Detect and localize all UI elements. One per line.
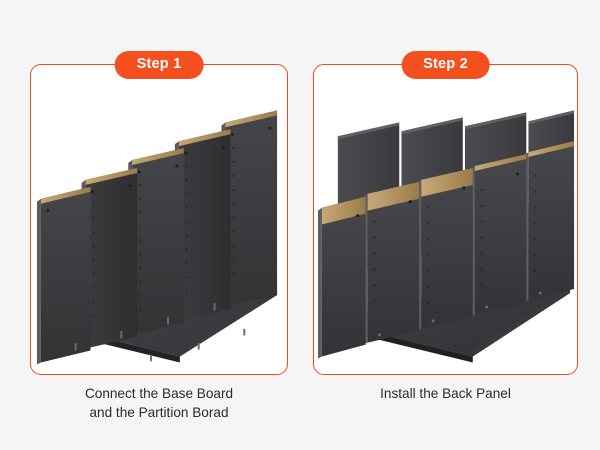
step-card-1: Step 1 xyxy=(30,64,288,375)
partition-boards-on-base-diagram xyxy=(31,91,287,370)
partition-board-1 xyxy=(37,187,91,365)
assembled-unit-with-back-panels-diagram xyxy=(314,91,577,370)
step-caption-1: Connect the Base Board and the Partition… xyxy=(30,385,288,423)
step-badge-2: Step 2 xyxy=(401,51,490,79)
step-caption-2: Install the Back Panel xyxy=(313,385,578,404)
step-badge-1: Step 1 xyxy=(115,51,204,79)
step-1-illustration xyxy=(31,91,287,370)
partition-board-1 xyxy=(318,197,366,359)
partition-board-5 xyxy=(524,141,574,302)
step-2-illustration xyxy=(314,91,577,370)
partition-board-4 xyxy=(471,154,527,317)
step-card-2: Step 2 xyxy=(313,64,578,375)
partition-board-3 xyxy=(417,168,473,331)
instruction-board: Step 1 xyxy=(0,0,600,450)
partition-board-2 xyxy=(364,182,420,345)
